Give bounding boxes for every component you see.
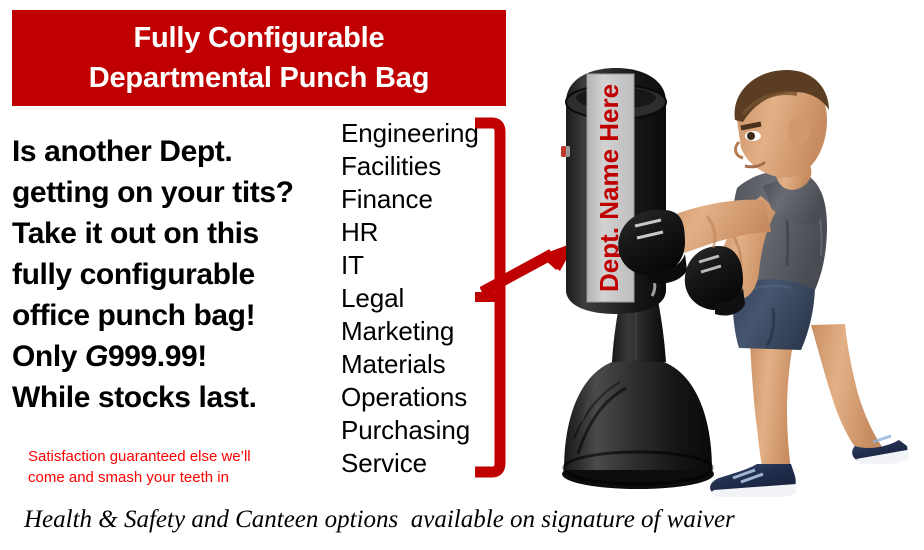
pitch-line-3: Take it out on this (12, 213, 332, 254)
price-line: Only G999.99! (12, 336, 332, 377)
fine-print-line-1: Satisfaction guaranteed else we’ll (28, 446, 328, 467)
list-item: Finance (341, 183, 491, 216)
boxer-photo (615, 50, 924, 500)
list-item: Materials (341, 348, 491, 381)
footer-caption: Health & Safety and Canteen options avai… (24, 503, 904, 537)
header-banner: Fully Configurable Departmental Punch Ba… (12, 10, 506, 106)
pitch-line-1: Is another Dept. (12, 131, 332, 172)
currency-symbol: G (85, 340, 108, 373)
pitch-line-6: While stocks last. (12, 377, 332, 418)
list-item: Operations (341, 381, 491, 414)
price-prefix: Only (12, 340, 85, 373)
pitch-line-4: fully configurable (12, 254, 332, 295)
list-item: Legal (341, 282, 491, 315)
banner-title-line-2: Departmental Punch Bag (89, 58, 429, 98)
list-item: Marketing (341, 315, 491, 348)
list-item: Service (341, 447, 491, 480)
list-item: Purchasing (341, 414, 491, 447)
boxer-rear-leg (811, 324, 909, 464)
boxer-front-leg (710, 326, 797, 497)
pitch-line-5: office punch bag! (12, 295, 332, 336)
list-item: Facilities (341, 150, 491, 183)
pitch-copy-block: Is another Dept. getting on your tits? T… (12, 131, 332, 418)
list-item: HR (341, 216, 491, 249)
banner-title-line-1: Fully Configurable (134, 18, 385, 58)
price-amount: 999.99! (108, 340, 207, 373)
fine-print-line-2: come and smash your teeth in (28, 467, 328, 488)
boxer-head (735, 70, 829, 177)
department-options-list: Engineering Facilities Finance HR IT Leg… (341, 117, 491, 480)
advertisement-poster: Fully Configurable Departmental Punch Ba… (0, 0, 924, 550)
list-item: Engineering (341, 117, 491, 150)
boxer-rear-glove (685, 246, 745, 316)
boxer-front-glove (618, 210, 687, 284)
pitch-line-2: getting on your tits? (12, 172, 332, 213)
fine-print-disclaimer: Satisfaction guaranteed else we’ll come … (28, 446, 328, 488)
list-item: IT (341, 249, 491, 282)
